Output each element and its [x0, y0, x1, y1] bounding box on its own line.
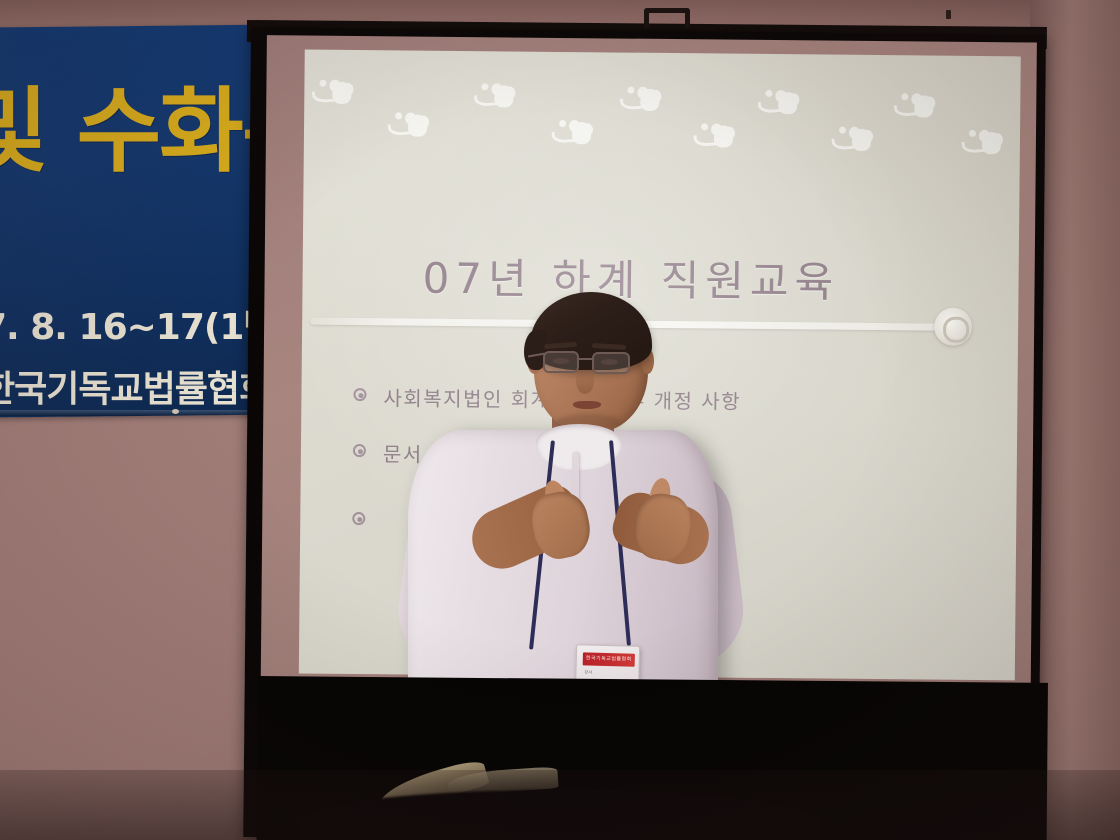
eyeglasses-icon: [543, 351, 579, 373]
badge-sub-text: 강사: [584, 669, 592, 675]
nose: [576, 368, 594, 394]
badge-header-bar: 한국기독교법률협회: [583, 652, 635, 666]
floor-shadow: [0, 770, 1120, 840]
eyeglasses-bridge: [578, 358, 593, 360]
mouth: [573, 401, 601, 409]
badge-header-text: 한국기독교법률협회: [583, 652, 635, 666]
eyeglasses-icon: [592, 352, 630, 374]
photo-scene: 및 수화통역 7. 8. 16~17(1박 2일) 한국기독교법률협회): [0, 0, 1120, 840]
